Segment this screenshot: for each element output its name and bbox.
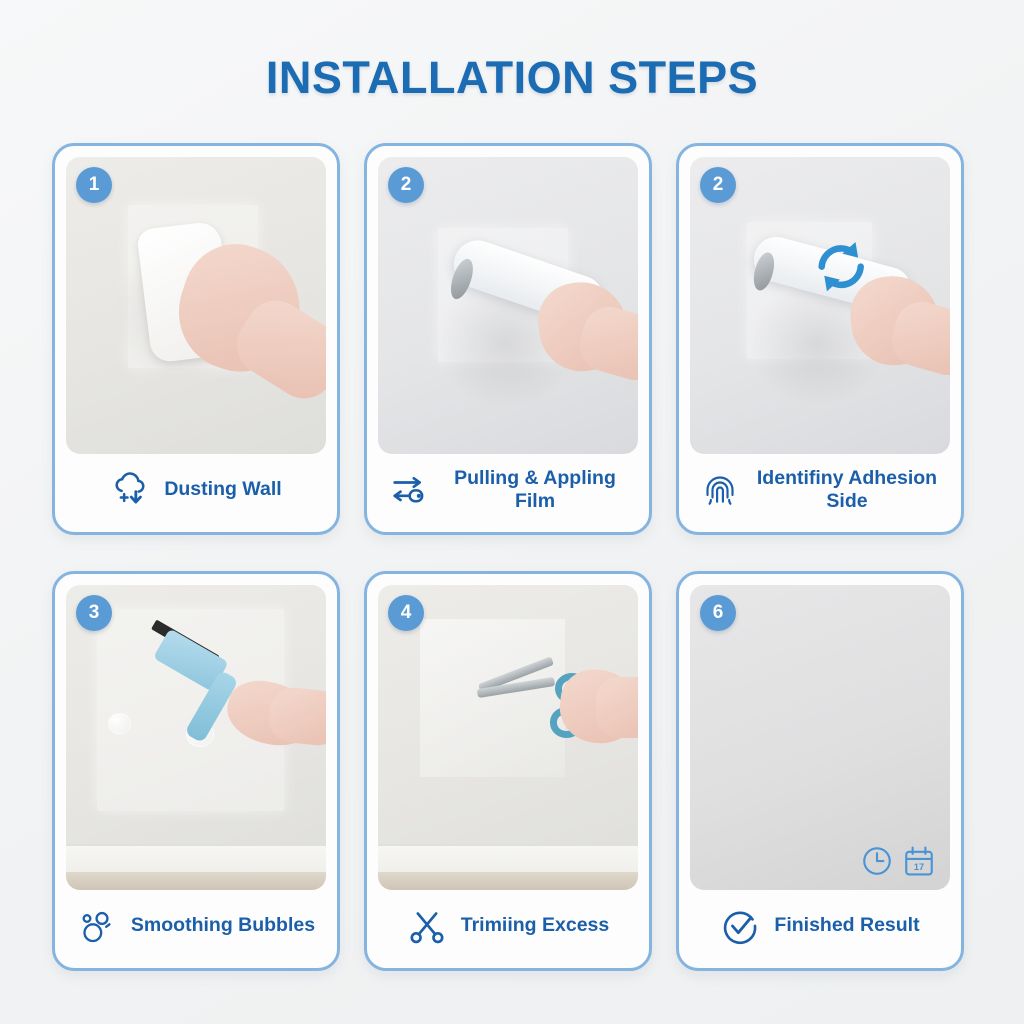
step-photo-identify-adhesion-side: 2 — [690, 157, 950, 454]
step-card-1[interactable]: 1 Dusting Wall — [52, 143, 340, 535]
step-label-3: Identifiny Adhesion Side — [754, 467, 940, 514]
calendar-icon: 17 — [902, 844, 936, 878]
step-label-5: Trimiing Excess — [461, 914, 610, 937]
pull-apply-film-icon — [388, 470, 428, 510]
step-photo-finished-result: 6 17 — [690, 585, 950, 890]
cloud-download-icon — [110, 470, 150, 510]
step-caption-2: Pulling & Appling Film — [378, 454, 638, 532]
check-circle-icon — [720, 906, 760, 946]
step-caption-5: Trimiing Excess — [378, 890, 638, 968]
step-badge-2: 2 — [388, 167, 424, 203]
step-caption-3: Identifiny Adhesion Side — [690, 454, 950, 532]
step-photo-dusting-wall: 1 — [66, 157, 326, 454]
step-badge-5: 4 — [388, 595, 424, 631]
step-card-2[interactable]: 2 Pulling & Appling Film — [364, 143, 652, 535]
finished-overlay-icons: 17 — [860, 844, 936, 878]
step-label-6: Finished Result — [774, 914, 919, 937]
step-badge-6: 6 — [700, 595, 736, 631]
step-label-2: Pulling & Appling Film — [442, 467, 628, 514]
step-photo-smoothing-bubbles: 3 — [66, 585, 326, 890]
step-caption-6: Finished Result — [690, 890, 950, 968]
step-label-4: Smoothing Bubbles — [131, 914, 315, 937]
page-title: INSTALLATION STEPS — [0, 0, 1024, 104]
fingerprint-icon — [700, 470, 740, 510]
step-badge-4: 3 — [76, 595, 112, 631]
step-caption-4: Smoothing Bubbles — [66, 890, 326, 968]
step-card-5[interactable]: 4 Trimiing Excess — [364, 571, 652, 971]
clock-icon — [860, 844, 894, 878]
step-card-3[interactable]: 2 — [676, 143, 964, 535]
step-card-4[interactable]: 3 Smoothing Bubbles — [52, 571, 340, 971]
steps-grid: 1 Dusting Wall 2 — [52, 143, 972, 971]
scissors-icon — [407, 906, 447, 946]
step-badge-1: 1 — [76, 167, 112, 203]
step-label-1: Dusting Wall — [164, 478, 281, 501]
step-card-6[interactable]: 6 17 Finished Result — [676, 571, 964, 971]
bubbles-icon — [77, 906, 117, 946]
step-photo-trimming-excess: 4 — [378, 585, 638, 890]
step-photo-pulling-film: 2 — [378, 157, 638, 454]
calendar-day-number: 17 — [914, 862, 924, 872]
rotate-arrows-overlay-icon — [810, 234, 872, 299]
step-badge-3: 2 — [700, 167, 736, 203]
step-caption-1: Dusting Wall — [66, 454, 326, 532]
